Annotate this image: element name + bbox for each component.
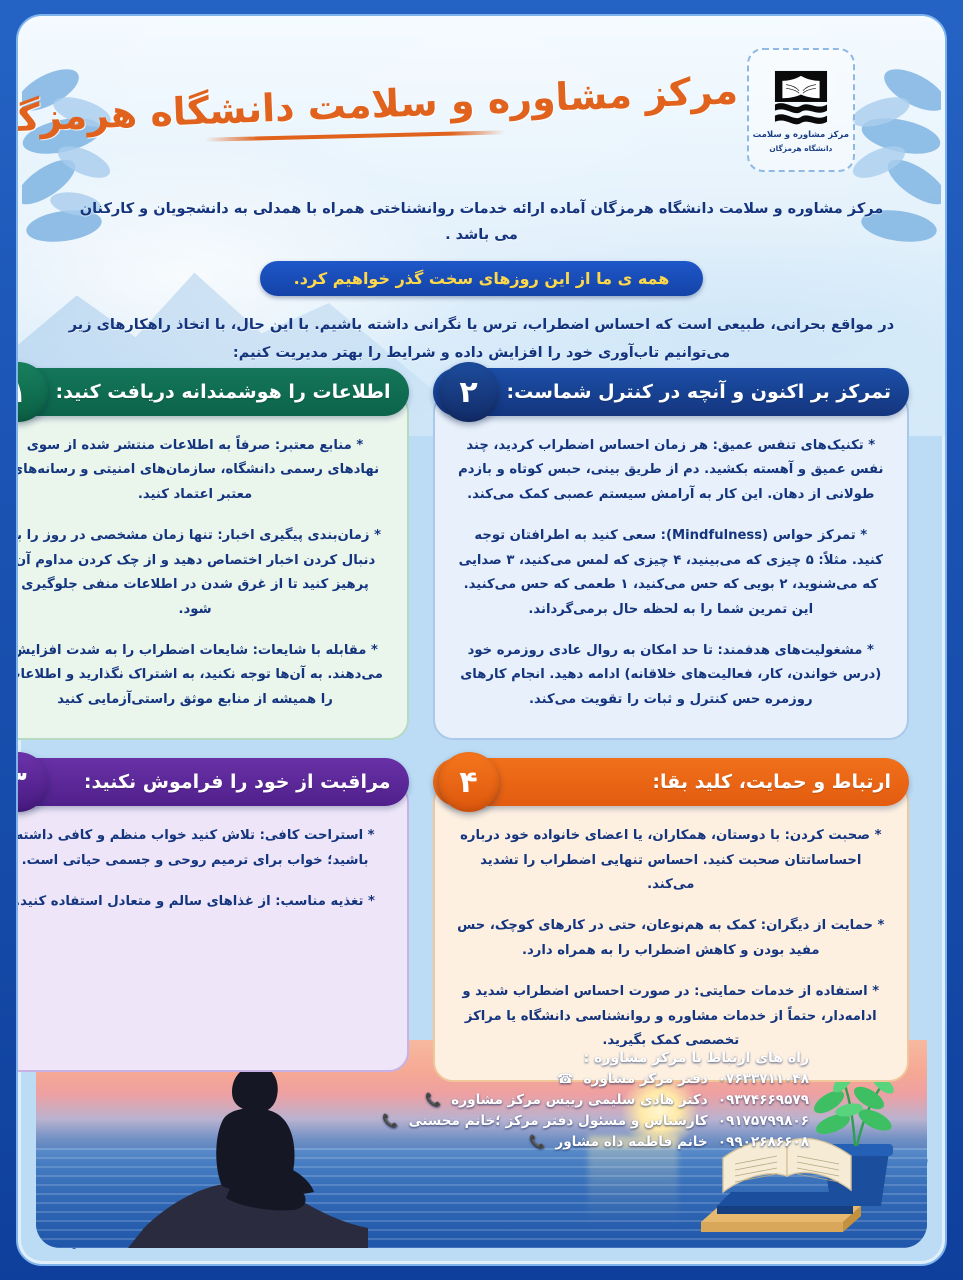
tip-card-4-paragraph-3: * استفاده از خدمات حمایتی: در صورت احساس… [457,980,885,1053]
tip-card-4-header: ارتباط و حمایت، کلید بقا: ۴ [433,758,909,806]
contact-label: کارشناس و مسئول دفتر مرکز ؛خانم محسنی [409,1113,708,1129]
telephone-icon: ☎ [557,1073,573,1086]
tip-card-4-paragraph-2: * حمایت از دیگران: کمک به هم‌نوعان، حتی … [457,914,885,963]
tip-card-2-paragraph-3: * مشغولیت‌های هدفمند: تا حد امکان به روا… [457,639,885,712]
poster-inner-frame: مرکز مشاوره و سلامت دانشگاه هرمزگان مرکز… [16,14,947,1266]
seated-person-silhouette [128,1052,368,1248]
tip-card-4-body: * صحبت کردن: با دوستان، همکاران، یا اعضا… [433,782,909,1081]
contact-info: راه های ارتباط با مرکز مشاوره : ۰۷۶۳۳۷۱۱… [382,1050,809,1155]
title-block: مرکز مشاوره و سلامت دانشگاه هرمزگان [16,82,747,138]
contact-phone-number: ۰۷۶۳۳۷۱۱۰۴۸ [718,1071,809,1087]
intro-section: مرکز مشاوره و سلامت دانشگاه هرمزگان آماد… [66,196,897,368]
logo-caption-line1: مرکز مشاوره و سلامت [753,130,849,141]
tip-card-1-paragraph-3: * مقابله با شایعات: شایعات اضطراب را به … [16,639,385,712]
tip-card-2-header: تمرکز بر اکنون و آنچه در کنترل شماست: ۲ [433,368,909,416]
tip-card-2-title: تمرکز بر اکنون و آنچه در کنترل شماست: [507,381,891,403]
contact-label: دکتر هادی سلیمی رییس مرکز مشاوره [451,1092,707,1108]
tip-card-2-paragraph-1: * تکنیک‌های تنفس عمیق: هر زمان احساس اضط… [457,434,885,507]
contact-row[interactable]: ۰۹۳۷۴۶۶۹۵۷۹ دکتر هادی سلیمی رییس مرکز مش… [382,1092,809,1108]
logo-caption-line2: دانشگاه هرمزگان [769,144,832,154]
tip-card-3-paragraph-1: * استراحت کافی: تلاش کنید خواب منظم و کا… [16,824,385,873]
tip-card-1-title: اطلاعات را هوشمندانه دریافت کنید: [56,381,391,403]
phone-icon: 📞 [382,1115,398,1128]
phone-icon: 📞 [529,1136,545,1149]
hormozgan-counseling-center-logo: مرکز مشاوره و سلامت دانشگاه هرمزگان [747,48,855,172]
tip-card-3-body: * استراحت کافی: تلاش کنید خواب منظم و کا… [16,782,409,1072]
tip-card-3: مراقبت از خود را فراموش نکنید: ۳ * استرا… [16,758,409,1081]
intro-body-line-2: می‌توانیم تاب‌آوری خود را افزایش داده و … [66,339,897,367]
tip-card-1-paragraph-1: * منابع معتبر: صرفاً به اطلاعات منتشر شد… [16,434,385,507]
contact-phone-number: ۰۹۳۷۴۶۶۹۵۷۹ [718,1092,809,1108]
contact-label: دفتر مرکز مشاوره [583,1071,707,1087]
tip-card-4-paragraph-1: * صحبت کردن: با دوستان، همکاران، یا اعضا… [457,824,885,897]
tip-card-3-paragraph-2: * تغذیه مناسب: از غذاهای سالم و متعادل ا… [16,890,385,914]
tip-card-1-paragraph-2: * زمان‌بندی پیگیری اخبار: تنها زمان مشخص… [16,524,385,622]
poster-header: مرکز مشاوره و سلامت دانشگاه هرمزگان مرکز… [40,34,923,186]
contact-row[interactable]: ۰۹۹۰۲۶۸۶۶۰۸ خانم فاطمه داه مشاور 📞 [382,1134,809,1150]
poster-root: مرکز مشاوره و سلامت دانشگاه هرمزگان مرکز… [0,0,963,1280]
intro-lead-text: مرکز مشاوره و سلامت دانشگاه هرمزگان آماد… [66,196,897,248]
contact-phone-number: ۰۹۱۷۵۷۹۹۸۰۶ [718,1113,809,1129]
tip-card-2-body: * تکنیک‌های تنفس عمیق: هر زمان احساس اضط… [433,392,909,740]
tip-card-1: اطلاعات را هوشمندانه دریافت کنید: ۱ * من… [16,368,409,740]
tips-grid: تمرکز بر اکنون و آنچه در کنترل شماست: ۲ … [54,368,909,1082]
open-book-waves-icon [770,66,832,128]
phone-icon: 📞 [425,1094,441,1107]
encouragement-banner: همه ی ما از این روزهای سخت گذر خواهیم کر… [260,261,704,296]
tip-card-1-number-badge: ۱ [16,362,48,422]
contact-heading: راه های ارتباط با مرکز مشاوره : [382,1050,809,1066]
tip-card-3-title: مراقبت از خود را فراموش نکنید: [56,771,391,793]
tip-card-2: تمرکز بر اکنون و آنچه در کنترل شماست: ۲ … [433,368,909,740]
tip-card-1-header: اطلاعات را هوشمندانه دریافت کنید: ۱ [16,368,409,416]
tip-card-4-number-badge: ۴ [439,752,499,812]
tip-card-1-body: * منابع معتبر: صرفاً به اطلاعات منتشر شد… [16,392,409,740]
tip-card-3-number-badge: ۳ [16,752,48,812]
contact-row[interactable]: ۰۷۶۳۳۷۱۱۰۴۸ دفتر مرکز مشاوره ☎ [382,1071,809,1087]
tip-card-4-title: ارتباط و حمایت، کلید بقا: [507,771,891,793]
tip-card-4: ارتباط و حمایت، کلید بقا: ۴ * صحبت کردن:… [433,758,909,1081]
contact-label: خانم فاطمه داه مشاور [555,1134,707,1150]
contact-row[interactable]: ۰۹۱۷۵۷۹۹۸۰۶ کارشناس و مسئول دفتر مرکز ؛خ… [382,1113,809,1129]
tip-card-2-number-badge: ۲ [439,362,499,422]
contact-phone-number: ۰۹۹۰۲۶۸۶۶۰۸ [718,1134,809,1150]
tip-card-2-paragraph-2: * تمرکز حواس (Mindfulness): سعی کنید به … [457,524,885,622]
intro-body-line-1: در مواقع بحرانی، طبیعی است که احساس اضطر… [66,311,897,339]
tip-card-3-header: مراقبت از خود را فراموش نکنید: ۳ [16,758,409,806]
